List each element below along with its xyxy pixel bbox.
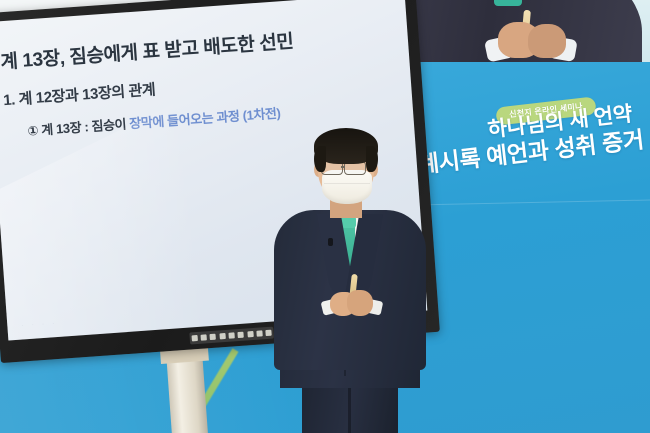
seminar-banner: 신천지 온라인 세미나 하나님의 새 언약 계시록 예언과 성취 증거 xyxy=(396,62,650,433)
banner-seam xyxy=(396,199,650,206)
presenter xyxy=(272,128,432,433)
lapel-microphone-icon xyxy=(328,238,333,246)
control-button[interactable] xyxy=(219,333,225,339)
presenter-hair-side-left xyxy=(314,146,326,172)
control-button[interactable] xyxy=(238,332,244,338)
control-button[interactable] xyxy=(256,330,262,336)
control-button[interactable] xyxy=(200,334,206,340)
control-button[interactable] xyxy=(191,335,197,341)
control-button[interactable] xyxy=(247,331,253,337)
face-mask-fold xyxy=(324,183,370,184)
eyeglasses-bridge xyxy=(341,166,345,168)
slide-footer-marks: · · · · xyxy=(21,320,58,330)
projection-tie xyxy=(494,0,522,6)
slide-bullet-2-accent: 장막에 들어오는 과정 (1차전) xyxy=(129,106,281,132)
presenter-hand-right xyxy=(347,290,373,316)
presenter-hands xyxy=(330,288,374,318)
control-button[interactable] xyxy=(210,334,216,340)
control-button[interactable] xyxy=(228,332,234,338)
face-mask-icon xyxy=(322,170,372,204)
projection-hand-right xyxy=(528,24,566,58)
presenter-hair-side-right xyxy=(366,146,378,172)
photo-scene: 신천지 온라인 세미나 하나님의 새 언약 계시록 예언과 성취 증거 계 13… xyxy=(0,0,650,433)
slide-bullet-2-prefix: ① 계 13장 : 짐승이 xyxy=(27,116,130,138)
